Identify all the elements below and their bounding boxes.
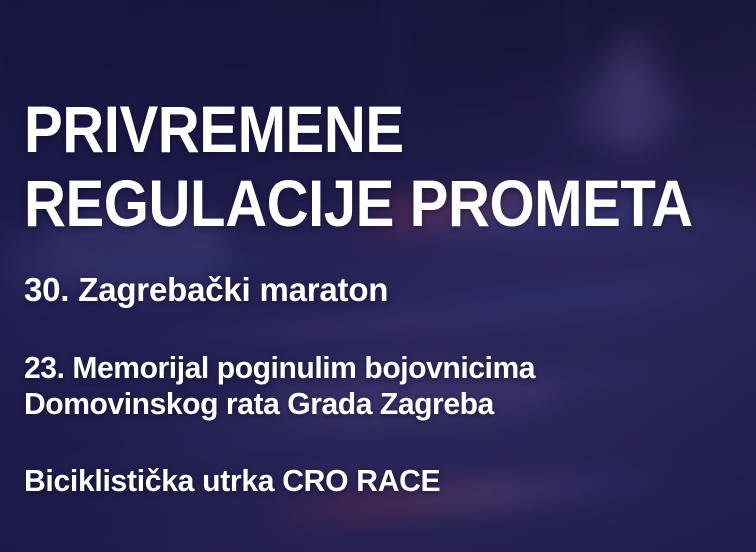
event-line-2: Domovinskog rata Grada Zagreba [24, 386, 535, 422]
event-line-1: 23. Memorijal poginulim bojovnicima [24, 350, 535, 386]
banner-content: PRIVREMENE REGULACIJE PROMETA 30. Zagreb… [0, 0, 756, 552]
banner-headline: PRIVREMENE REGULACIJE PROMETA [24, 92, 693, 240]
headline-line-1: PRIVREMENE [24, 92, 693, 166]
event-line-1: 30. Zagrebački maraton [24, 272, 388, 308]
event-item-cro-race: Biciklistička utrka CRO RACE [24, 463, 440, 499]
headline-line-2: REGULACIJE PROMETA [24, 166, 693, 240]
event-item-zagreb-marathon: 30. Zagrebački maraton [24, 272, 388, 308]
event-line-1: Biciklistička utrka CRO RACE [24, 463, 440, 499]
event-item-memorijal: 23. Memorijal poginulim bojovnicima Domo… [24, 350, 535, 422]
traffic-notice-banner: PRIVREMENE REGULACIJE PROMETA 30. Zagreb… [0, 0, 756, 552]
